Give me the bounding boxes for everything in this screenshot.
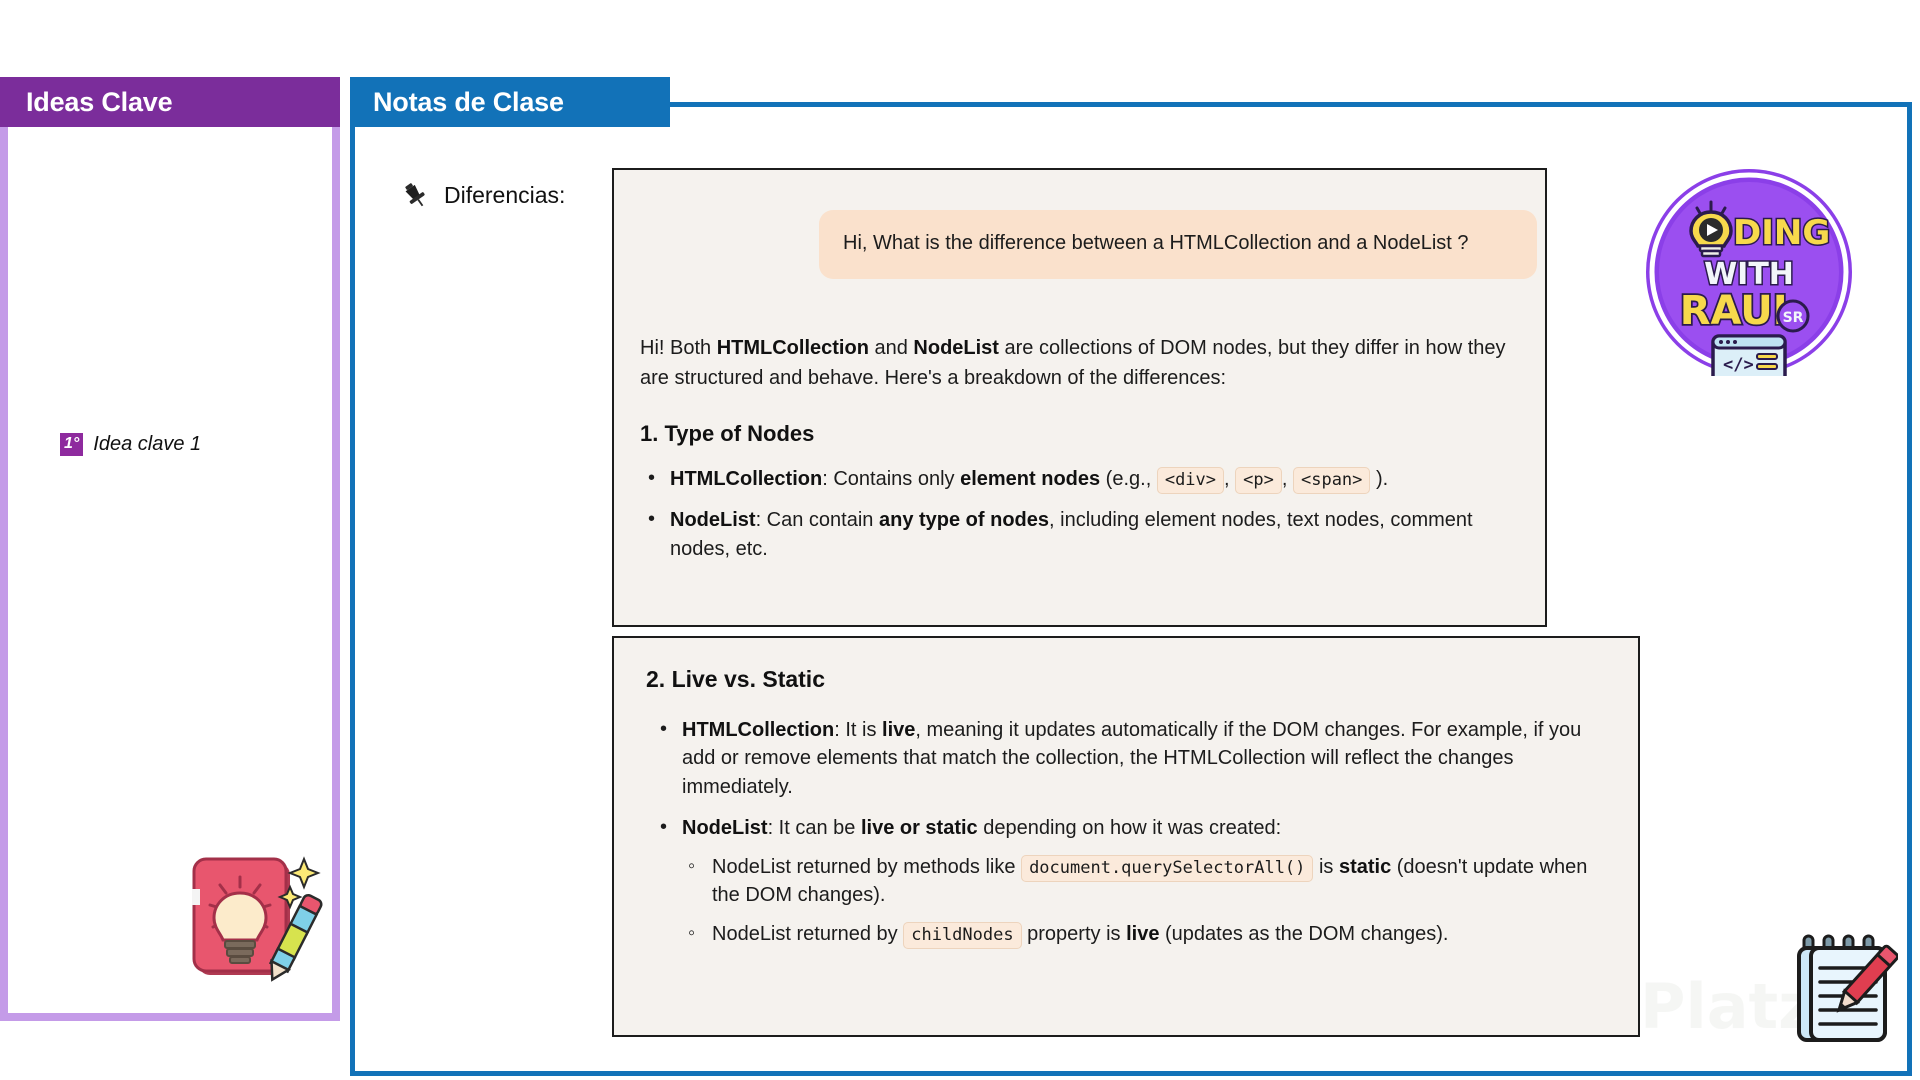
list-item: HTMLCollection: It is live, meaning it u… bbox=[682, 716, 1614, 801]
svg-text:</>: </> bbox=[1723, 355, 1754, 375]
diferencias-row: Diferencias: bbox=[400, 180, 565, 210]
bullet1-t4: , bbox=[1282, 468, 1293, 490]
bullet2-strong1: any type of nodes bbox=[879, 509, 1049, 531]
slide-canvas: Ideas Clave 1° Idea clave 1 bbox=[0, 0, 1920, 1080]
c2-bullet2-t1: : It can be bbox=[768, 817, 861, 839]
code-div-tag: <div> bbox=[1157, 467, 1224, 494]
sub2-strong1: live bbox=[1126, 923, 1159, 945]
logo-badge-sr: SR bbox=[1783, 310, 1804, 326]
intro-t2: and bbox=[869, 337, 913, 359]
logo-word-with: WITH bbox=[1704, 257, 1794, 292]
ideas-clave-body: 1° Idea clave 1 bbox=[0, 127, 340, 1021]
bullet1-t1: : Contains only bbox=[822, 468, 960, 490]
code-window-icon: </> bbox=[1713, 336, 1785, 376]
content-card-live-vs-static: 2. Live vs. Static HTMLCollection: It is… bbox=[612, 636, 1640, 1037]
type-of-nodes-list: HTMLCollection: Contains only element no… bbox=[642, 465, 1522, 576]
code-p-tag: <p> bbox=[1235, 467, 1282, 494]
c2-bullet2-t2: depending on how it was created: bbox=[978, 817, 1282, 839]
c2-bullet1-strong1: live bbox=[882, 719, 915, 741]
content-card-type-of-nodes: Hi, What is the difference between a HTM… bbox=[612, 168, 1547, 627]
bullet1-strong1: element nodes bbox=[960, 468, 1100, 490]
question-text: Hi, What is the difference between a HTM… bbox=[843, 232, 1469, 254]
sub2-t1: NodeList returned by bbox=[712, 923, 903, 945]
ideas-clave-header: Ideas Clave bbox=[0, 77, 340, 127]
code-childnodes: childNodes bbox=[903, 922, 1021, 949]
nodelist-sublist: NodeList returned by methods like docume… bbox=[682, 853, 1614, 949]
bullet2-term: NodeList bbox=[670, 509, 756, 531]
heading-type-of-nodes: 1. Type of Nodes bbox=[640, 421, 814, 447]
sub-list-item: NodeList returned by childNodes property… bbox=[712, 920, 1614, 948]
bullet1-t5: ). bbox=[1370, 468, 1388, 490]
list-item: NodeList: It can be live or static depen… bbox=[682, 814, 1614, 949]
notebook-lightbulb-emoji bbox=[190, 845, 330, 985]
c2-bullet1-t1: : It is bbox=[834, 719, 882, 741]
question-bubble: Hi, What is the difference between a HTM… bbox=[819, 210, 1537, 279]
ideas-clave-title: Ideas Clave bbox=[0, 87, 172, 118]
coding-with-raul-logo: DING WITH RAUL SR </> bbox=[1645, 168, 1853, 376]
ideas-clave-panel: Ideas Clave 1° Idea clave 1 bbox=[0, 77, 340, 1021]
idea-label: Idea clave 1 bbox=[93, 433, 201, 456]
intro-b1: HTMLCollection bbox=[717, 337, 869, 359]
intro-paragraph: Hi! Both HTMLCollection and NodeList are… bbox=[640, 333, 1530, 393]
list-item: NodeList: Can contain any type of nodes,… bbox=[670, 506, 1522, 563]
bullet1-t2: (e.g., bbox=[1100, 468, 1157, 490]
bullet1-term: HTMLCollection bbox=[670, 468, 822, 490]
diferencias-label: Diferencias: bbox=[444, 182, 565, 209]
c2-bullet1-term: HTMLCollection bbox=[682, 719, 834, 741]
code-span-tag: <span> bbox=[1293, 467, 1370, 494]
intro-t1: Hi! Both bbox=[640, 337, 717, 359]
live-vs-static-list: HTMLCollection: It is live, meaning it u… bbox=[654, 716, 1614, 962]
idea-item: 1° Idea clave 1 bbox=[60, 433, 201, 456]
c2-bullet2-strong1: live or static bbox=[861, 817, 978, 839]
notas-de-clase-header: Notas de Clase bbox=[350, 77, 670, 127]
sub1-strong1: static bbox=[1339, 856, 1391, 878]
sub1-t2: is bbox=[1313, 856, 1339, 878]
sub1-t1: NodeList returned by methods like bbox=[712, 856, 1021, 878]
idea-number-badge: 1° bbox=[60, 433, 83, 456]
logo-word-coding-rest: DING bbox=[1733, 213, 1830, 253]
code-queryselectorall: document.querySelectorAll() bbox=[1021, 855, 1313, 882]
memo-notepad-emoji bbox=[1790, 932, 1898, 1044]
bullet1-t3: , bbox=[1224, 468, 1235, 490]
heading-live-vs-static: 2. Live vs. Static bbox=[646, 666, 825, 693]
c2-bullet2-term: NodeList bbox=[682, 817, 768, 839]
sub2-t2: property is bbox=[1022, 923, 1126, 945]
pushpin-icon bbox=[400, 180, 430, 210]
bullet2-t1: : Can contain bbox=[756, 509, 879, 531]
notas-de-clase-title: Notas de Clase bbox=[350, 87, 564, 118]
list-item: HTMLCollection: Contains only element no… bbox=[670, 465, 1522, 493]
sub-list-item: NodeList returned by methods like docume… bbox=[712, 853, 1614, 910]
sub2-t3: (updates as the DOM changes). bbox=[1159, 923, 1448, 945]
intro-b2: NodeList bbox=[913, 337, 999, 359]
